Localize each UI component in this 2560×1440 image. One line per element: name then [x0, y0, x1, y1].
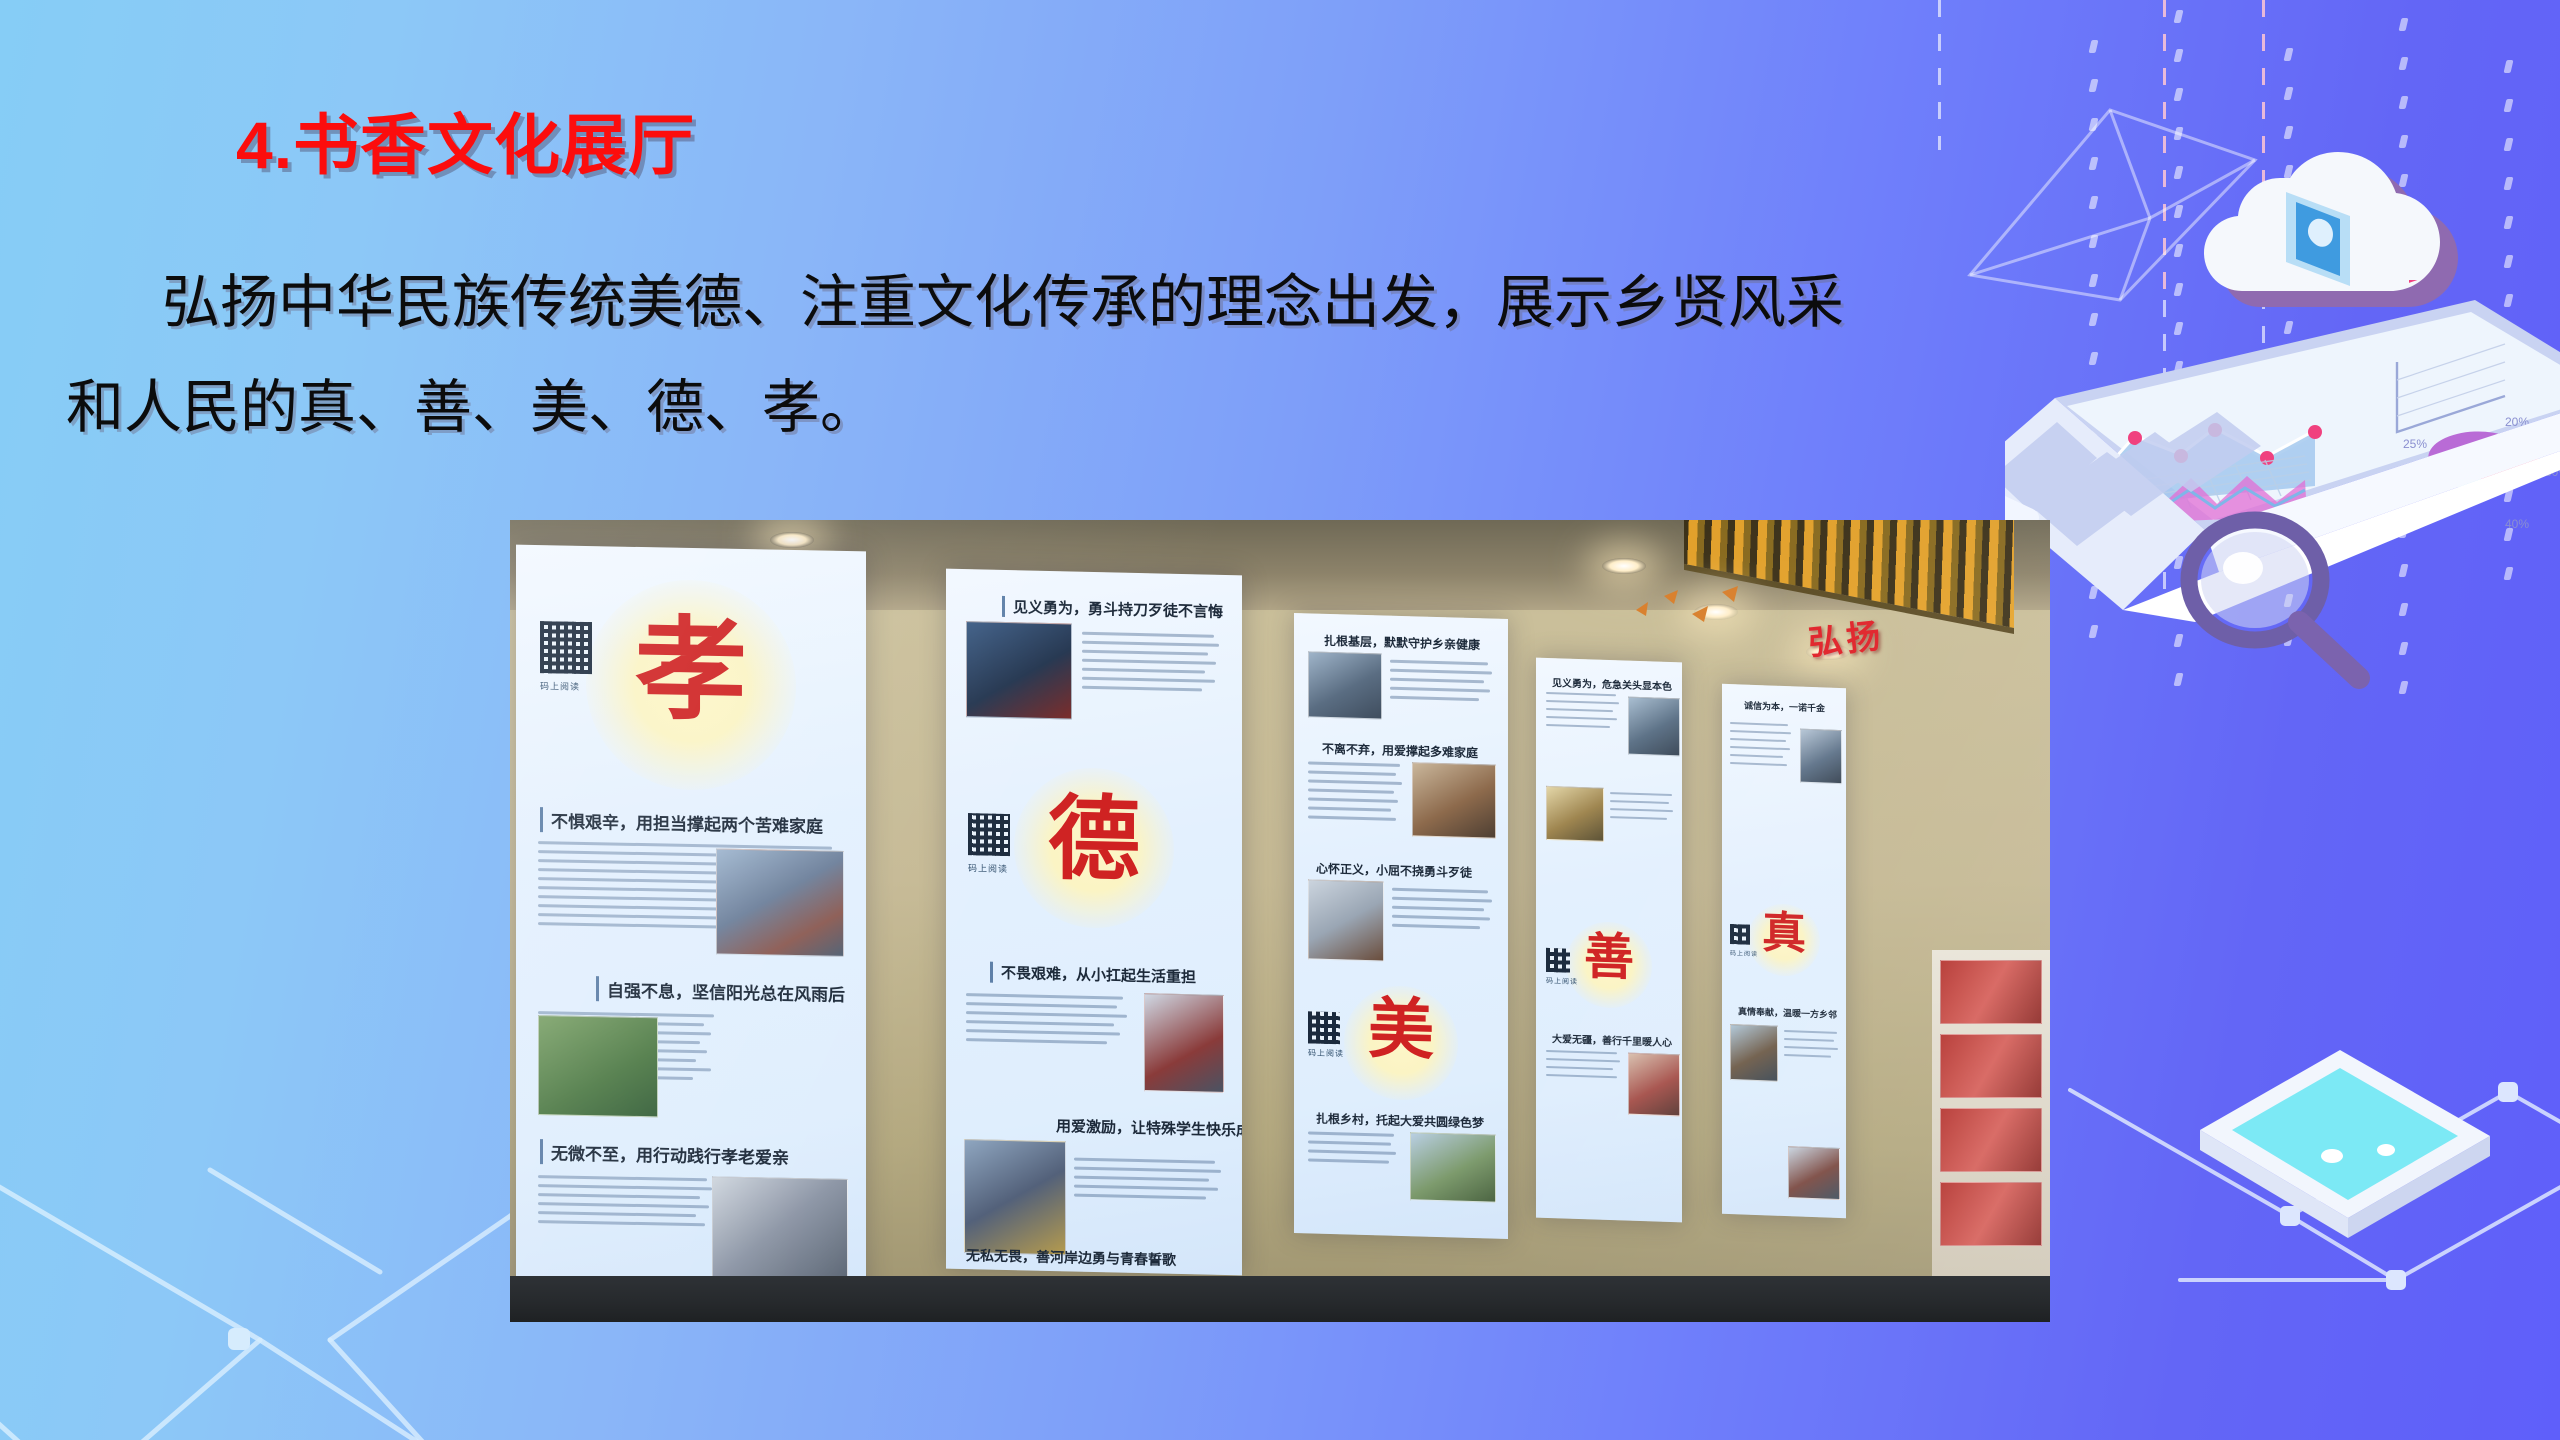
photo-floor — [510, 1276, 2050, 1322]
body-line-1: 弘扬中华民族传统美德、注重文化传承的理念出发，展示乡贤风采 — [162, 270, 1844, 335]
body-paragraph: 弘扬中华民族传统美德、注重文化传承的理念出发，展示乡贤风采 和人民的真、善、美、… — [66, 250, 2466, 460]
page-title: 4.书香文化展厅 — [236, 112, 695, 178]
body-line-2: 和人民的真、善、美、德、孝。 — [66, 375, 878, 440]
tablet-icon — [2180, 1010, 2510, 1250]
dashed-line — [1938, 0, 1941, 150]
exhibition-hall-photo: 弘扬 孝 码上阅读 不惧艰辛，用担当撑起两个苦难家庭 自强不息，坚信阳光总在风雨… — [510, 520, 2050, 1322]
chart-label-40: 40% — [2505, 517, 2529, 531]
iso-network-lines — [2060, 980, 2560, 1400]
photo-glare-overlay — [510, 520, 2050, 1322]
slide-root: 20% 25% 60% 40% — [0, 0, 2560, 1440]
chart-label-60: 60% — [2545, 465, 2560, 479]
chart-label-20: 20% — [2505, 415, 2529, 429]
dashed-line — [2262, 0, 2265, 190]
dot-pattern-column — [2505, 60, 2514, 606]
